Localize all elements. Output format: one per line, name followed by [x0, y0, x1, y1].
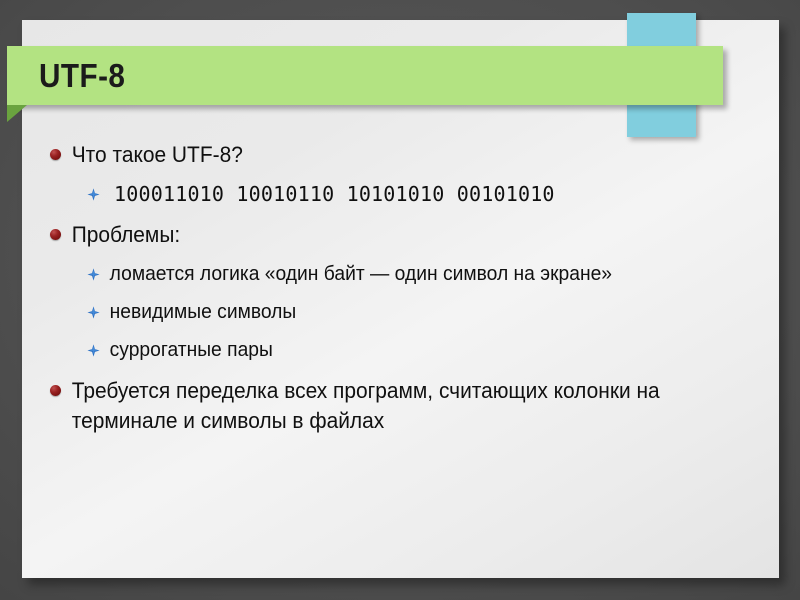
blue-star-bullet-icon	[82, 298, 104, 319]
red-sphere-bullet-icon	[43, 140, 68, 160]
slide-body: Что такое UTF-8? 100011010 10010110 1010…	[26, 128, 761, 436]
list-item: суррогатные пары	[26, 336, 761, 364]
list-item-label: Что такое UTF-8?	[68, 140, 712, 170]
list-item: 100011010 10010110 10101010 00101010	[26, 180, 761, 208]
red-sphere-bullet-icon	[43, 376, 68, 396]
list-item-label: ломается логика «один байт — один символ…	[104, 260, 722, 288]
list-item-label: Проблемы:	[68, 220, 712, 250]
list-item: невидимые символы	[26, 298, 761, 326]
list-item: Требуется переделка всех программ, счита…	[26, 376, 761, 436]
presentation-backdrop: UTF-8 Что такое UTF-8? 100011010 1001011…	[0, 0, 800, 600]
page-title: UTF-8	[39, 59, 125, 92]
red-sphere-bullet-icon	[43, 220, 68, 240]
blue-star-bullet-icon	[82, 180, 104, 201]
blue-star-bullet-icon	[82, 336, 104, 357]
list-item-label: невидимые символы	[104, 298, 722, 326]
list-item: Проблемы:	[26, 220, 761, 250]
list-item: Что такое UTF-8?	[26, 140, 761, 170]
blue-star-bullet-icon	[82, 260, 104, 281]
list-item-label: суррогатные пары	[104, 336, 722, 364]
title-banner: UTF-8	[7, 46, 723, 105]
list-item-label: 100011010 10010110 10101010 00101010	[104, 180, 761, 208]
list-item-label: Требуется переделка всех программ, счита…	[68, 376, 712, 436]
list-item: ломается логика «один байт — один символ…	[26, 260, 761, 288]
banner-fold-corner	[7, 105, 27, 122]
